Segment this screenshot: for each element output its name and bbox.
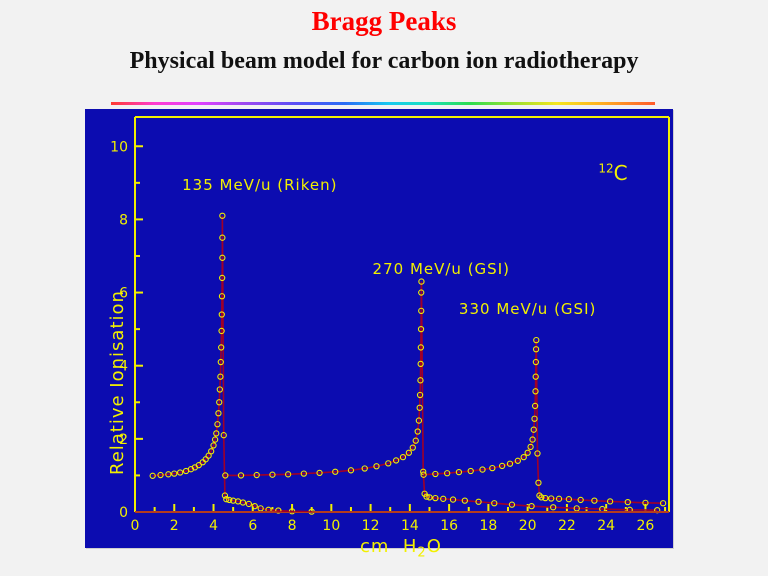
series-line [424, 340, 664, 503]
x-tick-label: 26 [637, 518, 655, 534]
x-tick-label: 24 [597, 518, 615, 534]
x-tick-label: 6 [248, 518, 257, 534]
page-title: Bragg Peaks [0, 6, 768, 37]
x-tick-label: 2 [170, 518, 179, 534]
y-tick-label: 8 [119, 212, 128, 228]
x-tick-label: 10 [322, 518, 340, 534]
series-line [153, 216, 312, 512]
ion-species-label: 12C [598, 161, 627, 185]
x-tick-label: 20 [519, 518, 537, 534]
page-subtitle: Physical beam model for carbon ion radio… [0, 48, 768, 75]
plot-svg: 024681012141618202224260246810 [85, 109, 673, 548]
x-tick-label: 22 [558, 518, 576, 534]
slide-root: Bragg Peaks Physical beam model for carb… [0, 0, 768, 576]
ion-mass-number: 12 [598, 161, 613, 175]
series-group [135, 213, 669, 514]
x-tick-label: 0 [131, 518, 140, 534]
y-tick-label: 10 [110, 139, 128, 155]
annotation-270mev: 270 MeV/u (GSI) [373, 260, 510, 278]
x-tick-label: 4 [209, 518, 218, 534]
x-axis-label: cm H2O [360, 536, 442, 561]
bragg-peak-chart: 024681012141618202224260246810 Relative … [85, 109, 673, 548]
y-tick-label: 0 [119, 505, 128, 521]
x-tick-label: 12 [362, 518, 380, 534]
x-tick-label: 14 [401, 518, 419, 534]
x-tick-label: 16 [440, 518, 458, 534]
x-tick-label: 18 [479, 518, 497, 534]
tick-labels-group: 024681012141618202224260246810 [110, 139, 654, 534]
ion-element-symbol: C [614, 161, 628, 185]
annotation-330mev: 330 MeV/u (GSI) [459, 300, 596, 318]
y-axis-label: Relative Ionisation [107, 290, 128, 475]
annotation-135mev: 135 MeV/u (Riken) [182, 176, 337, 194]
rainbow-divider [111, 102, 655, 105]
x-tick-label: 8 [288, 518, 297, 534]
